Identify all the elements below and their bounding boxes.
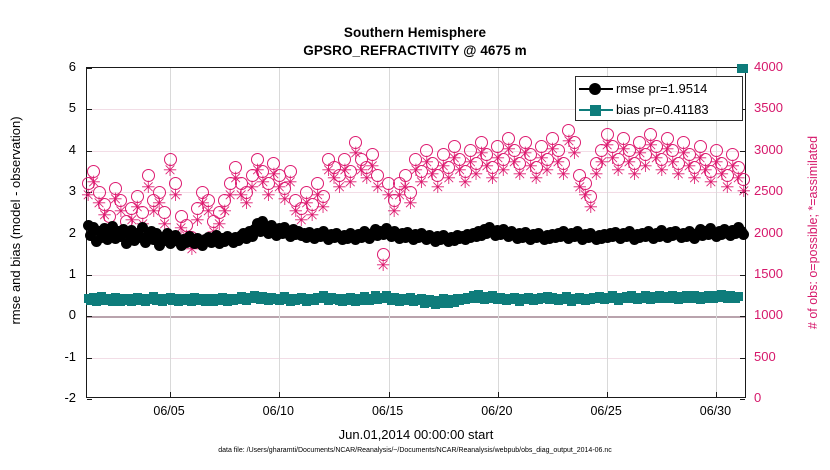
- title-line-1: Southern Hemisphere: [0, 24, 830, 42]
- axis-tick: [740, 358, 745, 359]
- x-tick-label: 06/05: [134, 404, 204, 418]
- legend-label-rmse: rmse pr=1.9514: [616, 81, 707, 96]
- axis-tick: [389, 392, 390, 397]
- marker-obs-assimilated: ✳: [583, 201, 598, 216]
- marker-obs-assimilated: ✳: [556, 168, 571, 183]
- axis-tick: [87, 358, 92, 359]
- legend-item-rmse[interactable]: rmse pr=1.9514: [576, 78, 742, 99]
- y-tick-label-right: 2000: [754, 226, 810, 239]
- y-tick-label-left: -1: [32, 350, 76, 363]
- x-tick-label: 06/15: [353, 404, 423, 418]
- axis-tick: [87, 399, 92, 400]
- y-tick-label-left: 0: [32, 308, 76, 321]
- y-tick-label-right: 3000: [754, 143, 810, 156]
- y-tick-label-left: 5: [32, 101, 76, 114]
- marker-obs-assimilated: ✳: [217, 205, 232, 220]
- x-tick-label: 06/10: [243, 404, 313, 418]
- marker-obs-assimilated: ✳: [736, 185, 751, 200]
- legend-item-bias[interactable]: bias pr=0.41183: [576, 99, 742, 120]
- y-tick-label-left: -2: [32, 391, 76, 404]
- marker-obs-assimilated: ✳: [239, 197, 254, 212]
- marker-obs-assimilated: ✳: [283, 176, 298, 191]
- legend-label-bias: bias pr=0.41183: [616, 102, 709, 117]
- marker-obs-assimilated: ✳: [163, 164, 178, 179]
- axis-tick: [87, 68, 92, 69]
- marker-obs-assimilated: ✳: [168, 189, 183, 204]
- marker-obs-assimilated: ✳: [228, 172, 243, 187]
- axis-tick: [740, 316, 745, 317]
- y-tick-label-left: 4: [32, 143, 76, 156]
- marker-obs-assimilated: ✳: [86, 176, 101, 191]
- axis-tick: [87, 109, 92, 110]
- marker-bias: [739, 64, 748, 73]
- marker-obs-assimilated: ✳: [387, 205, 402, 220]
- gridline-h: [87, 316, 745, 317]
- marker-obs-assimilated: ✳: [376, 259, 391, 274]
- chart-title: Southern Hemisphere GPSRO_REFRACTIVITY @…: [0, 24, 830, 60]
- marker-obs-assimilated: ✳: [152, 197, 167, 212]
- marker-obs-assimilated: ✳: [403, 197, 418, 212]
- x-tick-label: 06/20: [462, 404, 532, 418]
- x-tick-label: 06/30: [680, 404, 750, 418]
- gridline-h: [87, 358, 745, 359]
- axis-tick: [279, 392, 280, 397]
- y-tick-label-right: 3500: [754, 101, 810, 114]
- axis-tick: [740, 151, 745, 152]
- y-tick-label-right: 500: [754, 350, 810, 363]
- y-axis-left-title: rmse and bias (model - observation): [8, 55, 26, 386]
- axis-tick: [716, 392, 717, 397]
- axis-tick: [87, 151, 92, 152]
- legend-sample-rmse: [576, 78, 616, 99]
- title-line-2: GPSRO_REFRACTIVITY @ 4675 m: [0, 42, 830, 60]
- axis-tick: [740, 399, 745, 400]
- marker-obs-assimilated: ✳: [365, 160, 380, 175]
- axis-tick: [740, 275, 745, 276]
- figure-canvas: Southern Hemisphere GPSRO_REFRACTIVITY @…: [0, 0, 830, 470]
- legend-sample-bias: [576, 99, 616, 120]
- x-tick-label: 06/25: [571, 404, 641, 418]
- y-tick-label-left: 6: [32, 60, 76, 73]
- marker-obs-assimilated: ✳: [567, 147, 582, 162]
- y-tick-label-left: 2: [32, 226, 76, 239]
- marker-bias: [734, 292, 743, 301]
- marker-obs-assimilated: ✳: [130, 201, 145, 216]
- data-file-caption: data file: /Users/gharamti/Documents/NCA…: [0, 447, 830, 454]
- x-axis-title: Jun.01,2014 00:00:00 start: [86, 427, 746, 442]
- marker-rmse: [738, 229, 749, 240]
- axis-tick: [87, 316, 92, 317]
- axis-tick: [170, 392, 171, 397]
- axis-tick: [87, 275, 92, 276]
- axis-tick: [498, 392, 499, 397]
- y-tick-label-left: 1: [32, 267, 76, 280]
- y-tick-label-right: 2500: [754, 184, 810, 197]
- y-tick-label-right: 1500: [754, 267, 810, 280]
- gridline-h: [87, 275, 745, 276]
- y-tick-label-right: 4000: [754, 60, 810, 73]
- y-tick-label-right: 1000: [754, 308, 810, 321]
- y-tick-label-right: 0: [754, 391, 810, 404]
- legend[interactable]: rmse pr=1.9514 bias pr=0.41183: [575, 76, 743, 121]
- y-tick-label-left: 3: [32, 184, 76, 197]
- axis-tick: [607, 392, 608, 397]
- filled-square-icon: [590, 105, 601, 116]
- marker-obs-assimilated: ✳: [316, 201, 331, 216]
- filled-circle-icon: [589, 83, 601, 95]
